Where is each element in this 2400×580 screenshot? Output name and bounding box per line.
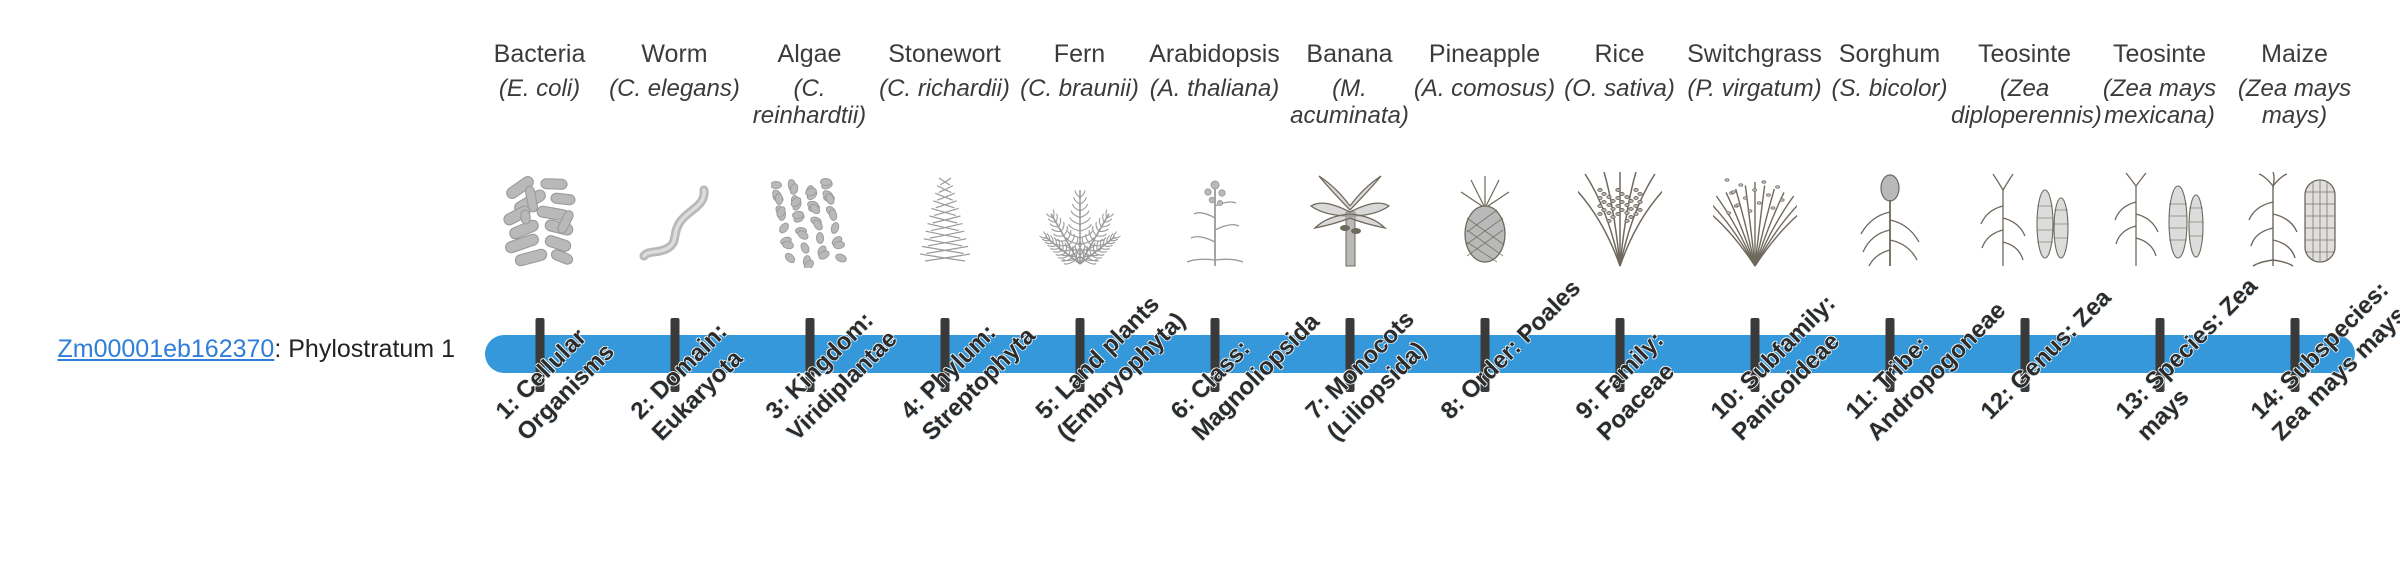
- rank-cell: 13: Species: Zea mays: [2092, 0, 2227, 580]
- rank-cell: 11: Tribe: Andropogoneae: [1822, 0, 1957, 580]
- rank-cell: 1: Cellular Organisms: [472, 0, 607, 580]
- gene-phylostratum-label: Zm00001eb162370: Phylostratum 1: [0, 335, 455, 364]
- gene-id-link[interactable]: Zm00001eb162370: [57, 335, 274, 363]
- rank-cell: 6: Class: Magnoliopsida: [1147, 0, 1282, 580]
- taxonomic-rank-label: 14: Subspecies: Zea mays mays: [2245, 257, 2400, 448]
- rank-cell: 4: Phylum: Streptophyta: [877, 0, 1012, 580]
- rank-cell: 14: Subspecies: Zea mays mays: [2227, 0, 2362, 580]
- phylostratum-chart: Zm00001eb162370: Phylostratum 1 Bacteria…: [0, 0, 2400, 580]
- rank-cell: 3: Kingdom: Viridiplantae: [742, 0, 877, 580]
- rank-cell: 5: Land plants (Embryophyta): [1012, 0, 1147, 580]
- rank-labels: 1: Cellular Organisms2: Domain: Eukaryot…: [472, 0, 2362, 580]
- gene-label-separator: :: [274, 335, 288, 363]
- rank-cell: 2: Domain: Eukaryota: [607, 0, 742, 580]
- rank-cell: 12: Genus: Zea: [1957, 0, 2092, 580]
- rank-cell: 8: Order: Poales: [1417, 0, 1552, 580]
- rank-cell: 9: Family: Poaceae: [1552, 0, 1687, 580]
- rank-cell: 7: Monocots (Liliopsida): [1282, 0, 1417, 580]
- phylostratum-value: Phylostratum 1: [288, 335, 455, 363]
- rank-cell: 10: Subfamily: Panicoideae: [1687, 0, 1822, 580]
